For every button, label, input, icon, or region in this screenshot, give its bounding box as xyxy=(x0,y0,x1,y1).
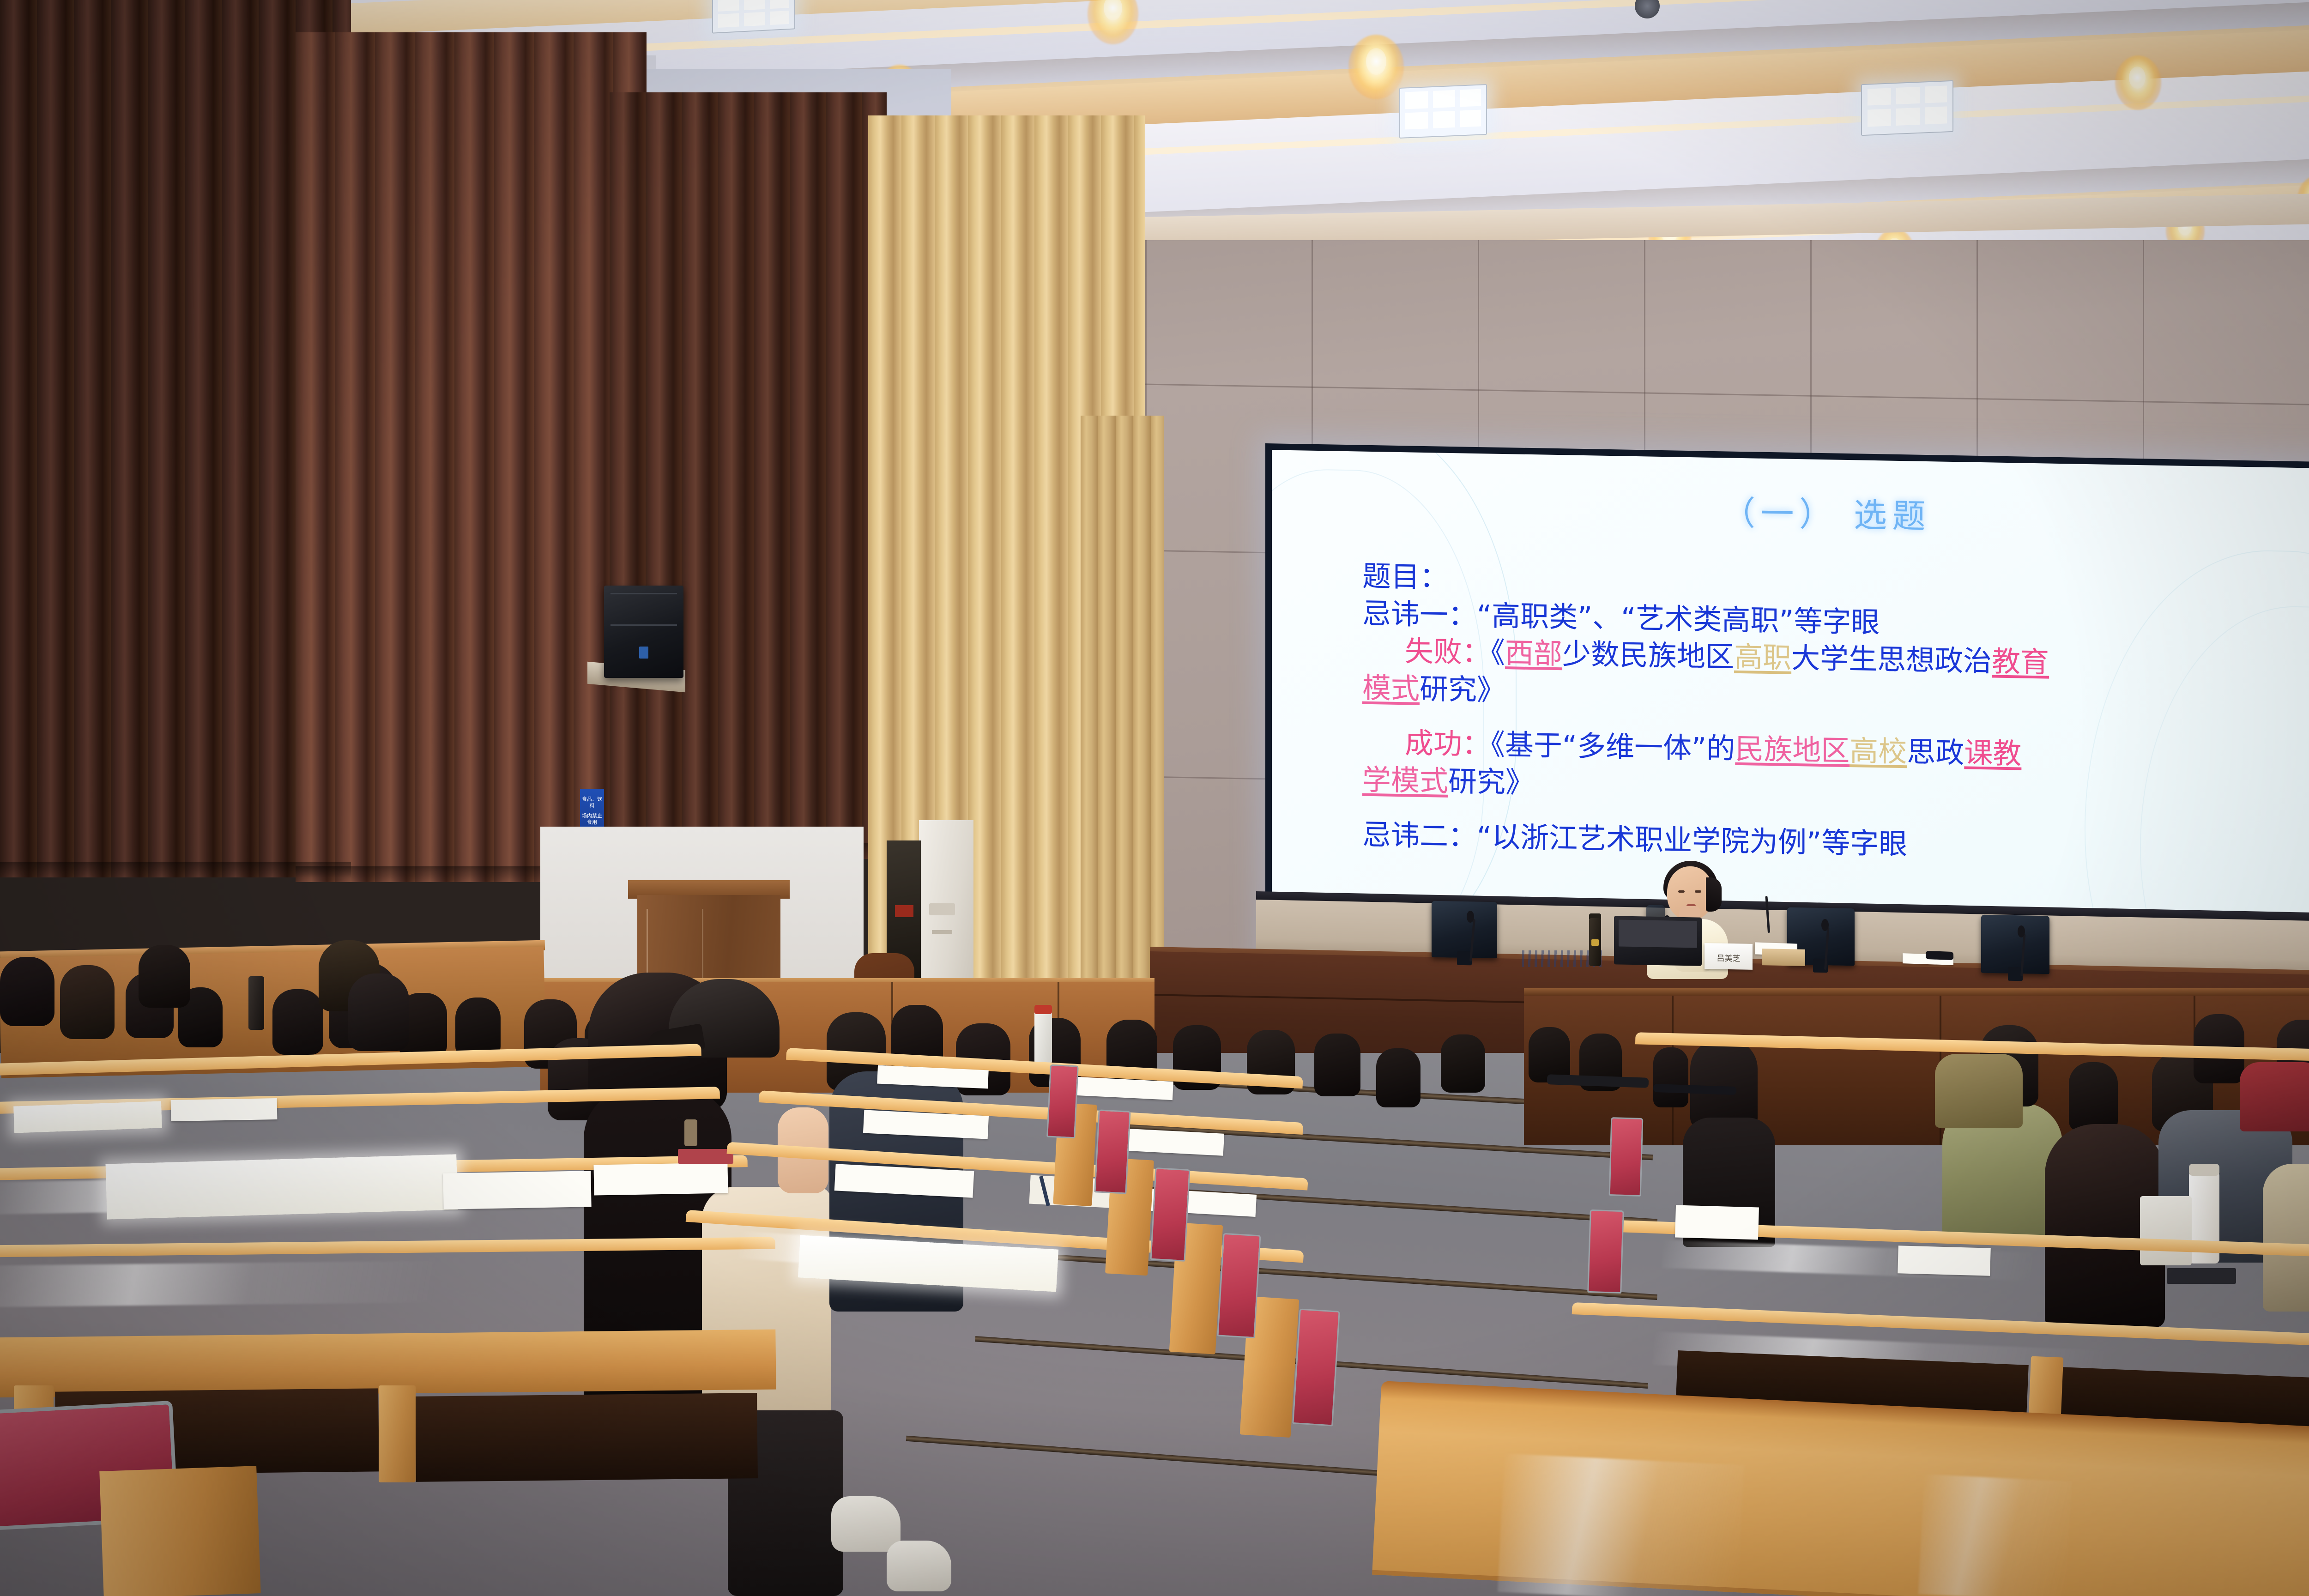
curtain-dark-mid xyxy=(296,32,647,882)
curtain-tan-right xyxy=(1081,416,1164,1025)
fluorescent-panel-icon xyxy=(1399,84,1487,139)
desk-papers xyxy=(1675,1205,1759,1240)
success-label: 成功： xyxy=(1405,726,1491,762)
microphone-head xyxy=(1821,919,1829,931)
auditorium-seat[interactable] xyxy=(1292,1308,1340,1426)
desk-right-edge xyxy=(2076,1269,2309,1391)
book-stack xyxy=(1762,949,1805,966)
auditorium-seat[interactable] xyxy=(1094,1109,1130,1194)
nameplate-text: 吕美芝 xyxy=(1705,951,1753,964)
desk-papers xyxy=(13,1101,162,1133)
bottle-cap-red xyxy=(1034,1005,1052,1014)
fail-label: 失败： xyxy=(1405,634,1491,669)
desk-papers xyxy=(105,1154,458,1219)
monitor-icon xyxy=(1981,915,2049,974)
desk-papers xyxy=(443,1171,591,1209)
desk-papers xyxy=(593,1162,728,1195)
seat-wood-arm xyxy=(99,1466,260,1596)
nameplate: 吕美芝 xyxy=(1705,943,1753,970)
auditorium-seat[interactable] xyxy=(1609,1117,1644,1197)
desk-shelf-opening xyxy=(415,1393,758,1482)
desk-reflection xyxy=(1498,1453,1744,1596)
speaker-hair-side xyxy=(1706,877,1722,912)
phone-icon xyxy=(678,1149,733,1164)
laptop-screen xyxy=(1619,920,1697,948)
auditorium-seat[interactable] xyxy=(1587,1209,1624,1294)
sign-line-2: 场内禁止食用 xyxy=(580,813,604,826)
auditorium-seat[interactable] xyxy=(1046,1064,1079,1139)
ceiling-downlight-icon xyxy=(1366,48,1386,75)
ceiling-downlight-icon xyxy=(2129,66,2146,89)
wainscot-right-cap xyxy=(1524,988,2309,996)
desk-leg xyxy=(379,1385,416,1482)
slide-body: 题目： 忌讳一：“高职类”、“艺术类高职”等字眼 失败：《西部少数民族地区高职大… xyxy=(1362,558,2309,871)
thermos-bottle-icon xyxy=(248,976,264,1030)
sign-line-1: 食品、饮料 xyxy=(580,796,604,809)
thermos-lid xyxy=(2189,1164,2219,1176)
auditorium-seat[interactable] xyxy=(1217,1233,1261,1338)
desk-reflection xyxy=(1918,1474,2072,1596)
fluorescent-panel-icon xyxy=(1861,80,1953,136)
monitor-icon xyxy=(1432,901,1497,958)
microphone-head xyxy=(2018,925,2025,937)
auditorium-seat[interactable] xyxy=(1150,1167,1190,1262)
fluorescent-panel-icon xyxy=(712,0,795,34)
water-bottle-icon xyxy=(1034,1010,1052,1064)
thermos-bottle-icon xyxy=(1589,918,1601,966)
rack-red-indicator xyxy=(895,905,913,917)
shoe xyxy=(887,1541,951,1591)
mic-base xyxy=(1926,951,1953,960)
desk-papers xyxy=(1898,1245,1991,1276)
shoe xyxy=(831,1496,901,1552)
lecture-hall-photo: 食品、饮料 场内禁止食用 （一） 选题 题目： 忌讳一：“高职类”、“艺术类高职… xyxy=(0,0,2309,1596)
laptop-icon[interactable] xyxy=(1614,916,1702,966)
curtain-dark-right xyxy=(610,92,887,859)
desk-papers xyxy=(171,1098,278,1121)
microphone-head xyxy=(1467,911,1474,923)
loudspeaker-icon xyxy=(604,586,683,678)
